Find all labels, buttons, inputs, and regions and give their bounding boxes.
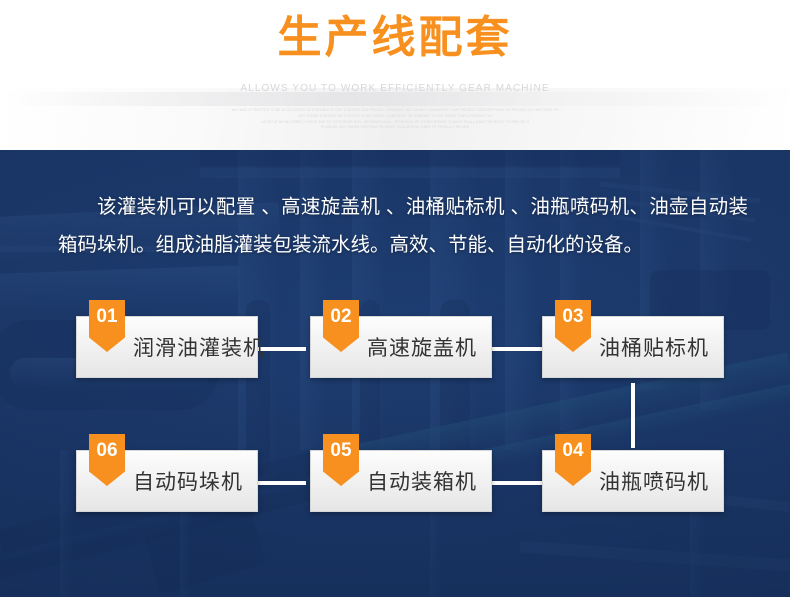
connector-04-05 [492, 481, 542, 485]
flow-badge-06: 06 [89, 434, 125, 486]
connector-02-03 [492, 347, 542, 351]
flow-label-05: 自动装箱机 [367, 451, 481, 511]
connector-05-06 [258, 481, 306, 485]
flow-badge-02: 02 [323, 300, 359, 352]
flow-node-04[interactable]: 04 油瓶喷码机 [542, 450, 724, 512]
connector-01-02 [258, 347, 306, 351]
flow-label-01: 润滑油灌装机 [133, 317, 247, 377]
flow-node-03[interactable]: 03 油桶贴标机 [542, 316, 724, 378]
flow-label-03: 油桶贴标机 [599, 317, 713, 377]
production-line-flow: 01 润滑油灌装机 02 高速旋盖机 03 油桶贴标机 06 自动码垛机 05 … [0, 0, 790, 597]
flow-node-06[interactable]: 06 自动码垛机 [76, 450, 258, 512]
flow-label-02: 高速旋盖机 [367, 317, 481, 377]
connector-03-04 [631, 383, 635, 448]
flow-label-04: 油瓶喷码机 [599, 451, 713, 511]
flow-badge-03: 03 [555, 300, 591, 352]
flow-badge-01: 01 [89, 300, 125, 352]
flow-node-01[interactable]: 01 润滑油灌装机 [76, 316, 258, 378]
product-banner: 生产线配套 ALLOWS YOU TO WORK EFFICIENTLY GEA… [0, 0, 790, 597]
flow-badge-05: 05 [323, 434, 359, 486]
flow-label-06: 自动码垛机 [133, 451, 247, 511]
flow-node-02[interactable]: 02 高速旋盖机 [310, 316, 492, 378]
flow-badge-04: 04 [555, 434, 591, 486]
flow-node-05[interactable]: 05 自动装箱机 [310, 450, 492, 512]
